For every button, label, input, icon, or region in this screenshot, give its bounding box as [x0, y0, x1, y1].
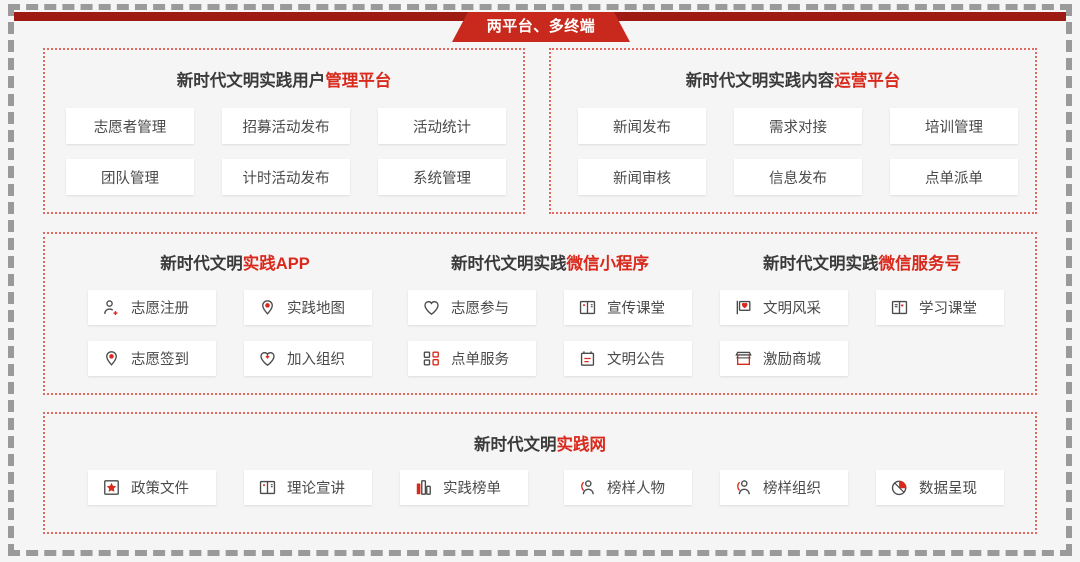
tile-incentive-mall[interactable]: 激励商城 — [720, 341, 848, 376]
heart-plus-icon — [258, 349, 277, 368]
map-pin-icon — [258, 298, 277, 317]
tile-label: 志愿参与 — [451, 297, 509, 318]
tile-label: 理论宣讲 — [287, 477, 345, 498]
tile-label: 文明风采 — [763, 297, 821, 318]
column-title-plain: 新时代文明实践 — [763, 255, 879, 273]
heart-icon — [422, 298, 441, 317]
column-title-highlight: 微信服务号 — [879, 255, 962, 273]
tile-data-presentation[interactable]: 数据呈现 — [876, 470, 1004, 505]
column-title-plain: 新时代文明 — [160, 255, 243, 273]
tile-theory-lecture[interactable]: 理论宣讲 — [244, 470, 372, 505]
bar-chart-icon — [414, 478, 433, 497]
tile-label: 加入组织 — [287, 348, 345, 369]
tile-label: 数据呈现 — [919, 477, 977, 498]
tile-label: 实践榜单 — [443, 477, 501, 498]
open-book-icon — [258, 478, 277, 497]
column-title-miniprogram: 新时代文明实践微信小程序 — [400, 250, 700, 274]
tile-activity-statistics[interactable]: 活动统计 — [378, 108, 506, 144]
tile-civilization-style[interactable]: 文明风采 — [720, 290, 848, 325]
tile-publicity-classroom[interactable]: 宣传课堂 — [564, 290, 692, 325]
tile-label: 志愿签到 — [131, 348, 189, 369]
tile-label: 宣传课堂 — [607, 297, 665, 318]
tile-news-review[interactable]: 新闻审核 — [578, 159, 706, 195]
flag-heart-icon — [734, 298, 753, 317]
column-title-highlight: 微信小程序 — [567, 255, 650, 273]
pie-chart-icon — [890, 478, 909, 497]
tile-label: 学习课堂 — [919, 297, 977, 318]
infographic-root: 两平台、多终端 新时代文明实践用户管理平台 志愿者管理 招募活动发布 活动统计 … — [0, 0, 1080, 562]
calendar-icon — [578, 349, 597, 368]
tile-label: 文明公告 — [607, 348, 665, 369]
banner-label: 两平台、多终端 — [487, 19, 596, 35]
tile-training-management[interactable]: 培训管理 — [890, 108, 1018, 144]
open-book-icon — [890, 298, 909, 317]
star-box-icon — [102, 478, 121, 497]
tile-team-management[interactable]: 团队管理 — [66, 159, 194, 195]
tile-order-dispatch[interactable]: 点单派单 — [890, 159, 1018, 195]
tile-volunteer-participate[interactable]: 志愿参与 — [408, 290, 536, 325]
column-title-highlight: 实践APP — [243, 255, 310, 273]
bar-group-icon — [422, 349, 441, 368]
tile-model-individuals[interactable]: 榜样人物 — [564, 470, 692, 505]
column-title-plain: 新时代文明实践 — [451, 255, 567, 273]
tile-volunteer-checkin[interactable]: 志愿签到 — [88, 341, 216, 376]
panel-title-highlight: 管理平台 — [325, 72, 391, 90]
tile-demand-matching[interactable]: 需求对接 — [734, 108, 862, 144]
panel-title-plain: 新时代文明实践用户 — [177, 72, 326, 90]
banner-ribbon: 两平台、多终端 — [452, 12, 630, 42]
tile-label: 政策文件 — [131, 477, 189, 498]
column-title-service-account: 新时代文明实践微信服务号 — [712, 250, 1012, 274]
person-add-icon — [102, 298, 121, 317]
tile-order-service[interactable]: 点单服务 — [408, 341, 536, 376]
tile-policy-documents[interactable]: 政策文件 — [88, 470, 216, 505]
tile-recruitment-activity-publish[interactable]: 招募活动发布 — [222, 108, 350, 144]
tile-system-management[interactable]: 系统管理 — [378, 159, 506, 195]
panel-content-platform-title: 新时代文明实践内容运营平台 — [551, 50, 1035, 91]
tile-label: 实践地图 — [287, 297, 345, 318]
tile-label: 榜样组织 — [763, 477, 821, 498]
tile-model-organizations[interactable]: 榜样组织 — [720, 470, 848, 505]
tile-news-publish[interactable]: 新闻发布 — [578, 108, 706, 144]
tile-information-publish[interactable]: 信息发布 — [734, 159, 862, 195]
column-title-app: 新时代文明实践APP — [85, 250, 385, 274]
panel-title-highlight: 运营平台 — [834, 72, 900, 90]
tile-civilization-announcement[interactable]: 文明公告 — [564, 341, 692, 376]
panel-title-highlight: 实践网 — [557, 436, 607, 454]
tile-volunteer-management[interactable]: 志愿者管理 — [66, 108, 194, 144]
tile-label: 榜样人物 — [607, 477, 665, 498]
tile-practice-map[interactable]: 实践地图 — [244, 290, 372, 325]
tile-study-classroom[interactable]: 学习课堂 — [876, 290, 1004, 325]
tile-timed-activity-publish[interactable]: 计时活动发布 — [222, 159, 350, 195]
panel-title-plain: 新时代文明 — [474, 436, 557, 454]
person-ribbon-icon — [578, 478, 597, 497]
panel-website-title: 新时代文明实践网 — [45, 414, 1035, 455]
panel-title-plain: 新时代文明实践内容 — [686, 72, 835, 90]
map-pin-check-icon — [102, 349, 121, 368]
tile-volunteer-register[interactable]: 志愿注册 — [88, 290, 216, 325]
tile-practice-ranking[interactable]: 实践榜单 — [400, 470, 528, 505]
panel-user-platform-title: 新时代文明实践用户管理平台 — [45, 50, 523, 91]
shop-icon — [734, 349, 753, 368]
open-book-icon — [578, 298, 597, 317]
tile-join-organization[interactable]: 加入组织 — [244, 341, 372, 376]
tile-label: 激励商城 — [763, 348, 821, 369]
person-ribbon-icon — [734, 478, 753, 497]
tile-label: 点单服务 — [451, 348, 509, 369]
tile-label: 志愿注册 — [131, 297, 189, 318]
